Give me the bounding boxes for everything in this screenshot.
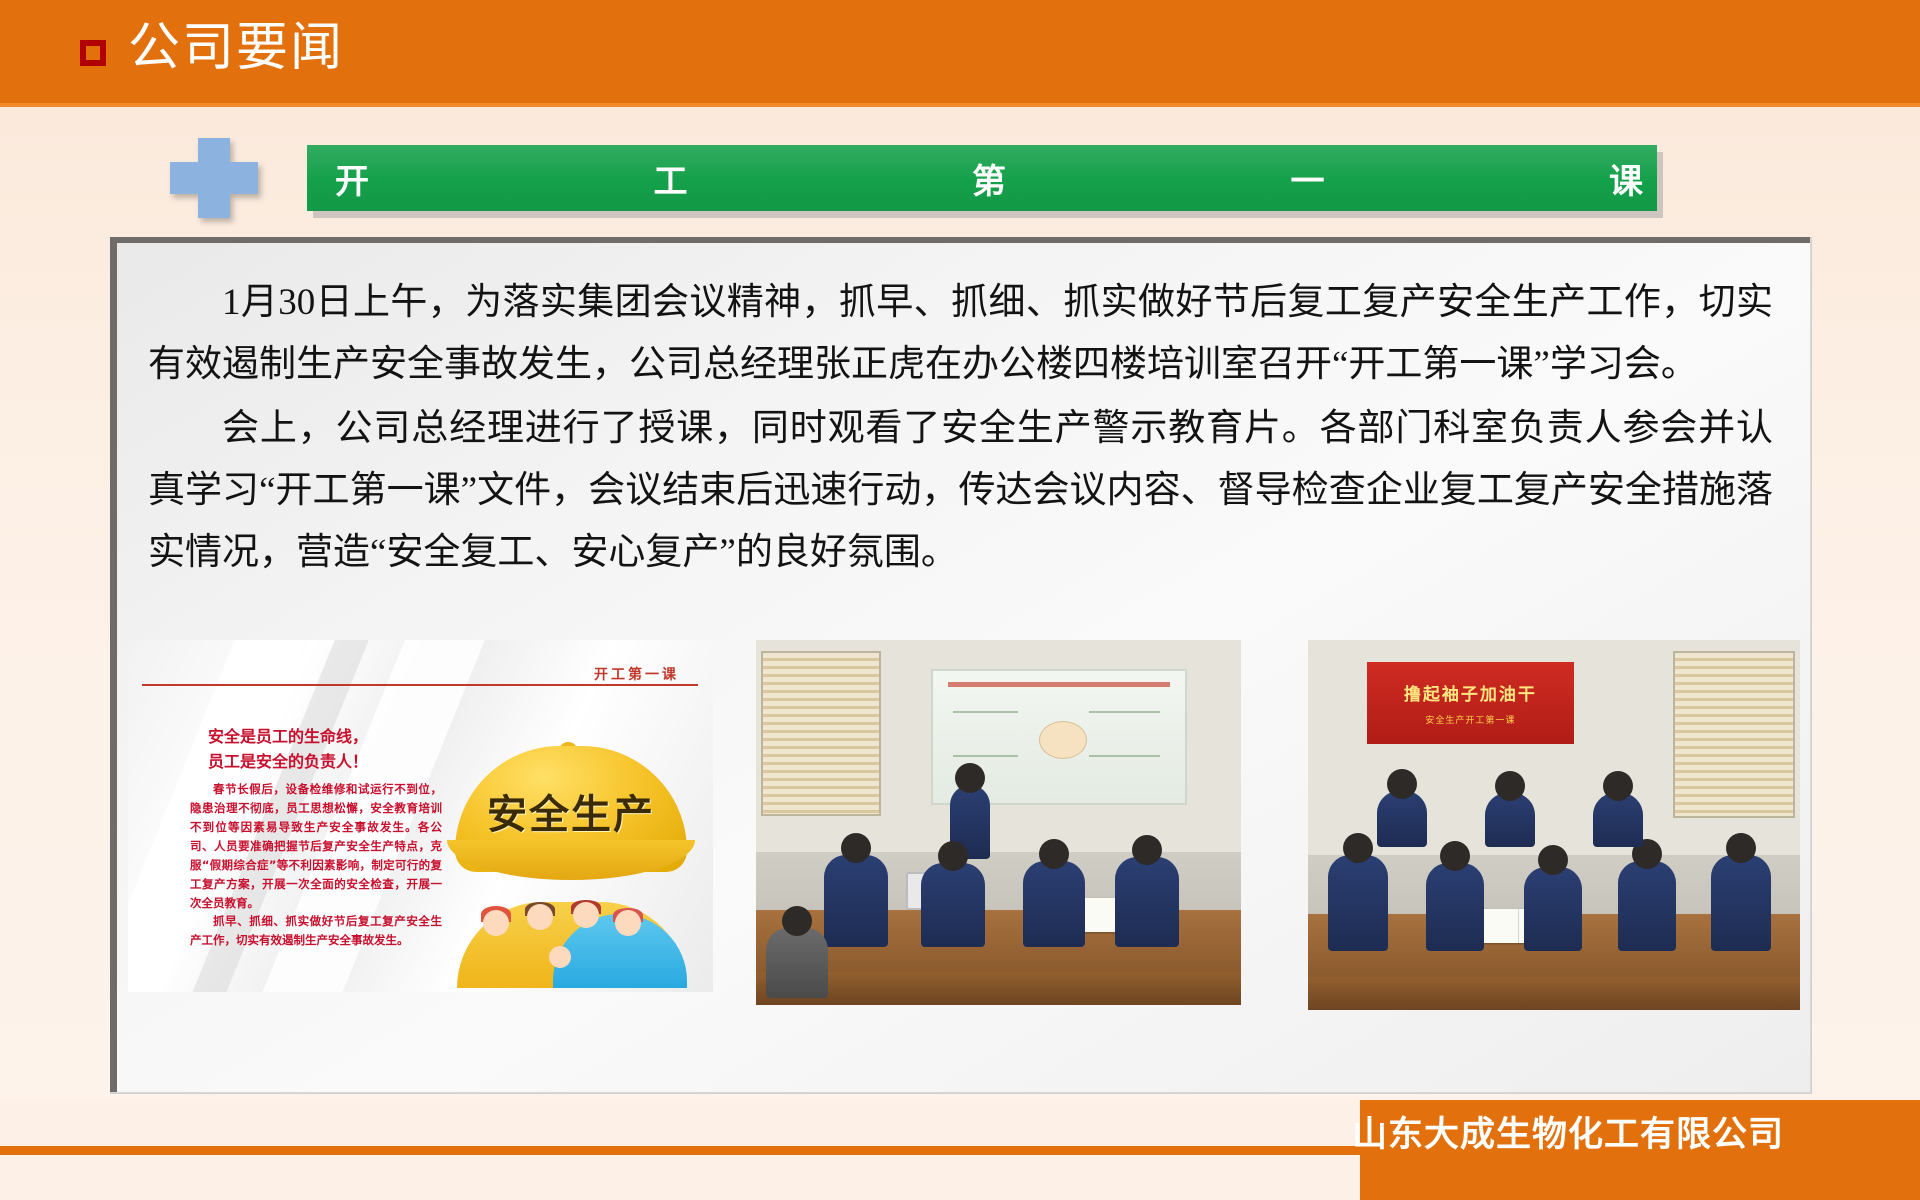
audience-notebook-spine — [1518, 909, 1519, 943]
family-head-1 — [483, 910, 509, 936]
helmet-label: 安全生产 — [447, 782, 695, 840]
poster-body-text-1: 春节长假后，设备检维修和试运行不到位，隐患治理不彻底，员工思想松懈，安全教育培训… — [190, 780, 442, 913]
poster-slogan: 安全是员工的生命线， 员工是安全的负责人！ — [208, 724, 438, 774]
page-header: 公司要闻 — [0, 0, 1920, 103]
room-window-left — [761, 651, 881, 816]
audience-person-7 — [1485, 793, 1535, 847]
banner-char-3: 第 — [972, 154, 1006, 203]
attendee-person-4 — [1115, 857, 1179, 947]
safety-helmet-icon: 安全生产 — [447, 736, 695, 886]
cross-horizontal-bar — [170, 162, 258, 194]
red-banner-subtitle: 安全生产开工第一课 — [1367, 713, 1574, 726]
slide-line-3 — [953, 755, 1019, 757]
presenter-head — [955, 763, 985, 793]
section-banner: 开 工 第 一 课 — [307, 145, 1657, 211]
audience-person-2 — [1426, 863, 1484, 951]
slide-title-bar — [948, 682, 1170, 687]
blue-cross-icon — [170, 138, 258, 218]
poster-slogan-line-1: 安全是员工的生命线， — [208, 724, 438, 749]
slide-line-4 — [1089, 755, 1160, 757]
article-body: 1月30日上午，为落实集团会议精神，抓早、抓细、抓实做好节后复工复产安全生产工作… — [148, 272, 1773, 584]
attendee-head-5 — [782, 906, 812, 936]
audience-person-6 — [1377, 791, 1427, 847]
footer-company-name: 山东大成生物化工有限公司 — [1352, 1106, 1784, 1157]
family-head-baby — [549, 946, 571, 968]
poster-body-text-2: 抓早、抓细、抓实做好节后复工复产安全生产工作，切实有效遏制生产安全事故发生。 — [190, 912, 442, 950]
room-scene-1 — [756, 640, 1241, 1005]
banner-char-1: 开 — [335, 154, 369, 203]
family-head-4 — [615, 910, 641, 936]
attendee-person-1 — [824, 855, 888, 947]
attendee-person-5 — [766, 928, 828, 998]
audience-head-8 — [1603, 771, 1633, 801]
audience-person-5 — [1711, 855, 1771, 951]
training-room-image — [756, 640, 1241, 1005]
audience-head-2 — [1440, 841, 1470, 871]
attendee-person-3 — [1023, 861, 1085, 947]
family-head-2 — [527, 904, 553, 930]
attendee-person-2 — [921, 863, 985, 947]
slide-line-2 — [1089, 711, 1160, 713]
room-scene-2: 撸起袖子加油干 安全生产开工第一课 — [1308, 640, 1800, 1010]
room-desk-back — [756, 972, 1241, 1005]
slide-line-1 — [953, 711, 1019, 713]
red-wall-banner: 撸起袖子加油干 安全生产开工第一课 — [1367, 662, 1574, 743]
poster-canvas: 开工第一课 安全是员工的生命线， 员工是安全的负责人！ 春节长假后，设备检维修和… — [128, 640, 713, 992]
poster-tag: 开工第一课 — [594, 664, 679, 684]
article-paragraph-2: 会上，公司总经理进行了授课，同时观看了安全生产警示教育片。各部门科室负责人参会并… — [148, 398, 1773, 584]
slide-brain-graphic — [1039, 721, 1087, 759]
article-paragraph-1: 1月30日上午，为落实集团会议精神，抓早、抓细、抓实做好节后复工复产安全生产工作… — [148, 272, 1773, 396]
helmet-brim — [447, 840, 695, 880]
audience-desk-back — [1308, 977, 1800, 1010]
audience-head-7 — [1495, 771, 1525, 801]
audience-head-6 — [1387, 769, 1417, 799]
family-head-3 — [573, 902, 599, 928]
footer-accent-line — [0, 1146, 1372, 1155]
photo-row: 开工第一课 安全是员工的生命线， 员工是安全的负责人！ 春节长假后，设备检维修和… — [128, 640, 1798, 1000]
audience-head-3 — [1538, 845, 1568, 875]
red-banner-title: 撸起袖子加油干 — [1367, 680, 1574, 705]
header-title-group: 公司要闻 — [80, 22, 344, 74]
audience-person-3 — [1524, 867, 1582, 951]
card-top-border — [110, 237, 1810, 243]
banner-char-4: 一 — [1291, 154, 1325, 203]
room-window-right — [1673, 651, 1795, 818]
audience-head-1 — [1343, 833, 1373, 863]
banner-char-2: 工 — [654, 154, 688, 203]
banner-char-5: 课 — [1609, 154, 1643, 203]
attendee-head-3 — [1039, 839, 1069, 869]
attendee-head-4 — [1132, 835, 1162, 865]
card-left-border — [110, 237, 117, 1092]
audience-head-5 — [1726, 833, 1756, 863]
attendee-head-1 — [841, 833, 871, 863]
poster-slogan-line-2: 员工是安全的负责人！ — [208, 749, 438, 774]
family-illustration — [457, 880, 687, 988]
audience-person-8 — [1593, 793, 1643, 847]
audience-image: 撸起袖子加油干 安全生产开工第一课 — [1308, 640, 1800, 1010]
attendee-head-2 — [938, 841, 968, 871]
audience-person-4 — [1618, 861, 1676, 951]
banner-text: 开 工 第 一 课 — [335, 145, 1643, 211]
page-title: 公司要闻 — [128, 22, 344, 74]
safety-poster-image: 开工第一课 安全是员工的生命线， 员工是安全的负责人！ 春节长假后，设备检维修和… — [128, 640, 713, 992]
square-bullet-icon — [80, 40, 106, 66]
audience-person-1 — [1328, 855, 1388, 951]
poster-divider-line — [142, 684, 698, 686]
